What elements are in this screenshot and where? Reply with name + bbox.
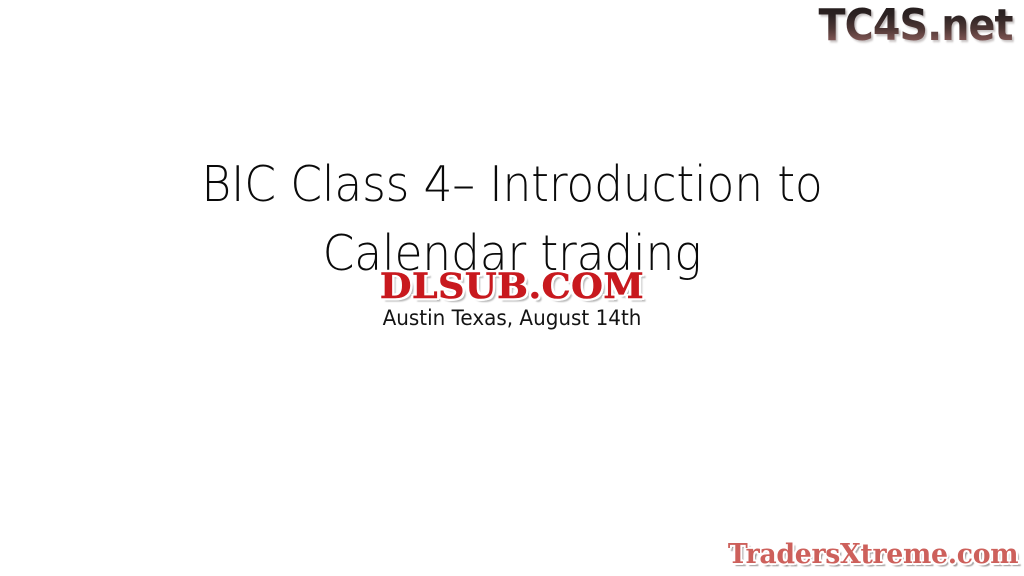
slide-subtitle: Austin Texas, August 14th: [26, 305, 999, 332]
watermark-dlsub-text: DLSUB.COM: [380, 268, 644, 306]
watermark-dlsub: DLSUB.COM: [0, 268, 1024, 306]
presentation-slide: TC4S.net BIC Class 4– Introduction to Ca…: [0, 0, 1024, 576]
slide-title-line-1: BIC Class 4– Introduction to: [36, 150, 988, 219]
watermark-tradersxtreme-text: TradersXtreme.com: [728, 539, 1018, 570]
watermark-tradersxtreme: TradersXtreme.com: [725, 539, 1018, 570]
watermark-tc4s-logo: TC4S.net: [819, 1, 1013, 51]
